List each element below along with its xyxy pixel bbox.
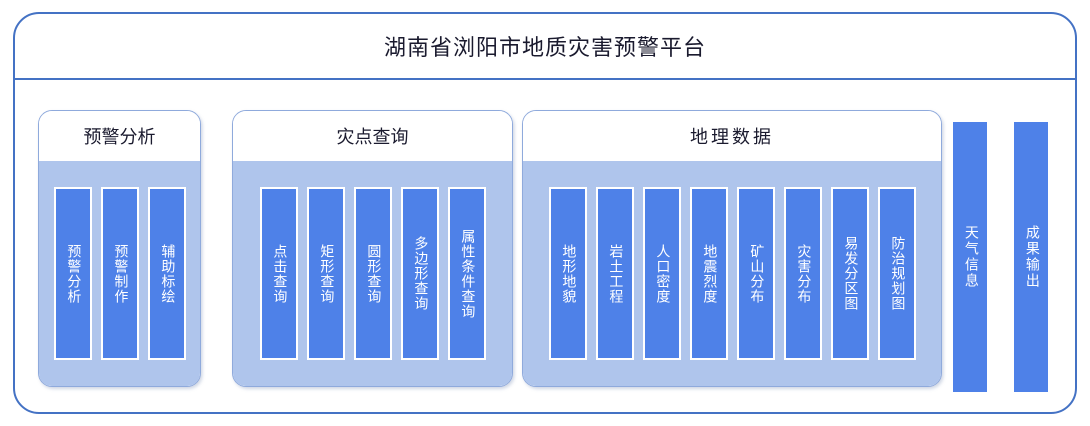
group-title: 灾点查询 xyxy=(337,123,409,149)
module-tile-weather-info[interactable]: 天气信息 xyxy=(953,122,987,392)
module-tile-label: 防治规划图 xyxy=(889,236,905,311)
group-header: 预警分析 xyxy=(39,111,200,161)
module-tile-label: 圆形查询 xyxy=(365,244,381,304)
module-tile-label: 天气信息 xyxy=(962,225,978,289)
module-tile-label: 人口密度 xyxy=(654,244,670,304)
module-tile-label: 地形地貌 xyxy=(560,244,576,304)
module-tile[interactable]: 属性条件查询 xyxy=(448,187,486,360)
group-header: 灾点查询 xyxy=(233,111,512,161)
group-body: 地形地貌 岩土工程 人口密度 地震烈度 矿山分布 灾害分布 xyxy=(523,161,941,386)
group-body: 点击查询 矩形查询 圆形查询 多边形查询 属性条件查询 xyxy=(233,161,512,386)
group-body: 预警分析 预警制作 辅助标绘 xyxy=(39,161,200,386)
module-tile[interactable]: 预警制作 xyxy=(101,187,139,360)
module-tile-label: 预警分析 xyxy=(65,244,81,304)
group-card-geographic-data[interactable]: 地理数据 地形地貌 岩土工程 人口密度 地震烈度 xyxy=(522,110,942,387)
module-tile-result-output[interactable]: 成果输出 xyxy=(1014,122,1048,392)
module-tile-label: 易发分区图 xyxy=(842,236,858,311)
module-tile[interactable]: 防治规划图 xyxy=(878,187,916,360)
module-tile[interactable]: 易发分区图 xyxy=(831,187,869,360)
module-tile[interactable]: 岩土工程 xyxy=(596,187,634,360)
module-tile[interactable]: 地形地貌 xyxy=(549,187,587,360)
module-tile[interactable]: 矿山分布 xyxy=(737,187,775,360)
module-tile-label: 辅助标绘 xyxy=(159,244,175,304)
module-tile[interactable]: 人口密度 xyxy=(643,187,681,360)
module-tile[interactable]: 预警分析 xyxy=(54,187,92,360)
module-tile-label: 点击查询 xyxy=(271,244,287,304)
group-title: 地理数据 xyxy=(690,123,774,149)
module-tile-label: 预警制作 xyxy=(112,244,128,304)
platform-diagram: 湖南省浏阳市地质灾害预警平台 预警分析 预警分析 预警制作 辅助标绘 xyxy=(0,0,1090,426)
group-card-disaster-point-query[interactable]: 灾点查询 点击查询 矩形查询 圆形查询 多边形查询 xyxy=(232,110,513,387)
module-tile-label: 地震烈度 xyxy=(701,244,717,304)
group-card-warning-analysis[interactable]: 预警分析 预警分析 预警制作 辅助标绘 xyxy=(38,110,201,387)
module-tile[interactable]: 圆形查询 xyxy=(354,187,392,360)
title-bar: 湖南省浏阳市地质灾害预警平台 xyxy=(15,14,1075,80)
module-tile-label: 成果输出 xyxy=(1023,225,1039,289)
module-tile-label: 灾害分布 xyxy=(795,244,811,304)
module-tile[interactable]: 点击查询 xyxy=(260,187,298,360)
module-tile-label: 属性条件查询 xyxy=(459,229,475,319)
page-title: 湖南省浏阳市地质灾害预警平台 xyxy=(384,30,706,62)
module-tile-label: 矩形查询 xyxy=(318,244,334,304)
module-tile-label: 矿山分布 xyxy=(748,244,764,304)
module-tile[interactable]: 地震烈度 xyxy=(690,187,728,360)
module-tile-label: 岩土工程 xyxy=(607,244,623,304)
module-tile[interactable]: 矩形查询 xyxy=(307,187,345,360)
module-tile[interactable]: 多边形查询 xyxy=(401,187,439,360)
module-region: 预警分析 预警分析 预警制作 辅助标绘 灾点查询 xyxy=(15,80,1075,412)
outer-frame: 湖南省浏阳市地质灾害预警平台 预警分析 预警分析 预警制作 辅助标绘 xyxy=(13,12,1077,414)
module-tile[interactable]: 灾害分布 xyxy=(784,187,822,360)
module-tile[interactable]: 辅助标绘 xyxy=(148,187,186,360)
group-header: 地理数据 xyxy=(523,111,941,161)
module-tile-label: 多边形查询 xyxy=(412,236,428,311)
group-title: 预警分析 xyxy=(84,123,156,149)
